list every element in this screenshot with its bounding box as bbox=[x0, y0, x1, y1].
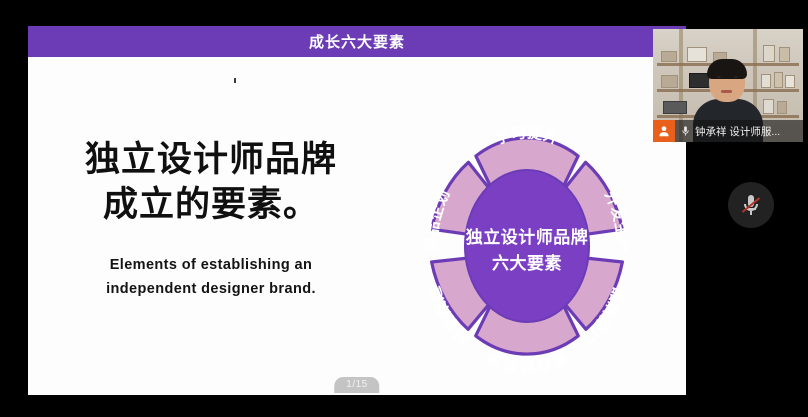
person-icon bbox=[653, 120, 675, 142]
participant-eye bbox=[734, 76, 738, 78]
slide-text-block: 独立设计师品牌 成立的要素。 Elements of establishing … bbox=[61, 138, 361, 301]
cursor-artifact bbox=[234, 78, 236, 83]
microphone-muted-button[interactable] bbox=[728, 182, 774, 228]
slide-title-bar: 成长六大要素 bbox=[28, 26, 686, 57]
participant-mouth bbox=[721, 90, 732, 93]
shelf-item bbox=[785, 75, 795, 88]
shelf-item bbox=[687, 47, 707, 62]
six-elements-donut-diagram: 独立设计师品牌 六大要素 学习提升 开发生产 品牌推广 供应链资源 经销渠道 bbox=[413, 105, 641, 387]
slide-page-indicator: 1/15 bbox=[334, 377, 379, 393]
shelf-item bbox=[761, 74, 771, 88]
shelf-item bbox=[763, 45, 775, 62]
participant-name-bar: 钟承祥 设计师服... bbox=[653, 120, 803, 142]
microphone-muted-icon bbox=[739, 193, 763, 217]
meeting-screen-share-view: 成长六大要素 独立设计师品牌 成立的要素。 Elements of establ… bbox=[0, 0, 808, 417]
shelf-item bbox=[661, 51, 677, 62]
headline-line-1: 独立设计师品牌 bbox=[61, 138, 361, 183]
shelf-item bbox=[661, 75, 678, 88]
slide-title-text: 成长六大要素 bbox=[309, 31, 405, 52]
participant-eye bbox=[717, 76, 721, 78]
shelf-item bbox=[774, 72, 783, 88]
shelf-item bbox=[663, 101, 687, 114]
donut-center-line-1: 独立设计师品牌 bbox=[466, 227, 589, 247]
subheadline-line-1: Elements of establishing an bbox=[61, 254, 361, 276]
participant-video-tile[interactable]: 钟承祥 设计师服... bbox=[653, 29, 803, 142]
subheadline-line-2: independent designer brand. bbox=[61, 278, 361, 300]
microphone-icon bbox=[680, 124, 691, 138]
shelf-item bbox=[779, 47, 790, 62]
shared-slide[interactable]: 成长六大要素 独立设计师品牌 成立的要素。 Elements of establ… bbox=[28, 26, 686, 395]
shelf-item bbox=[763, 99, 774, 114]
participant-name-text: 钟承祥 设计师服... bbox=[695, 124, 780, 139]
shelf-item bbox=[777, 101, 787, 114]
participant-hair bbox=[707, 59, 747, 79]
donut-center-line-2: 六大要素 bbox=[492, 253, 562, 273]
headline-line-2: 成立的要素。 bbox=[61, 183, 361, 228]
